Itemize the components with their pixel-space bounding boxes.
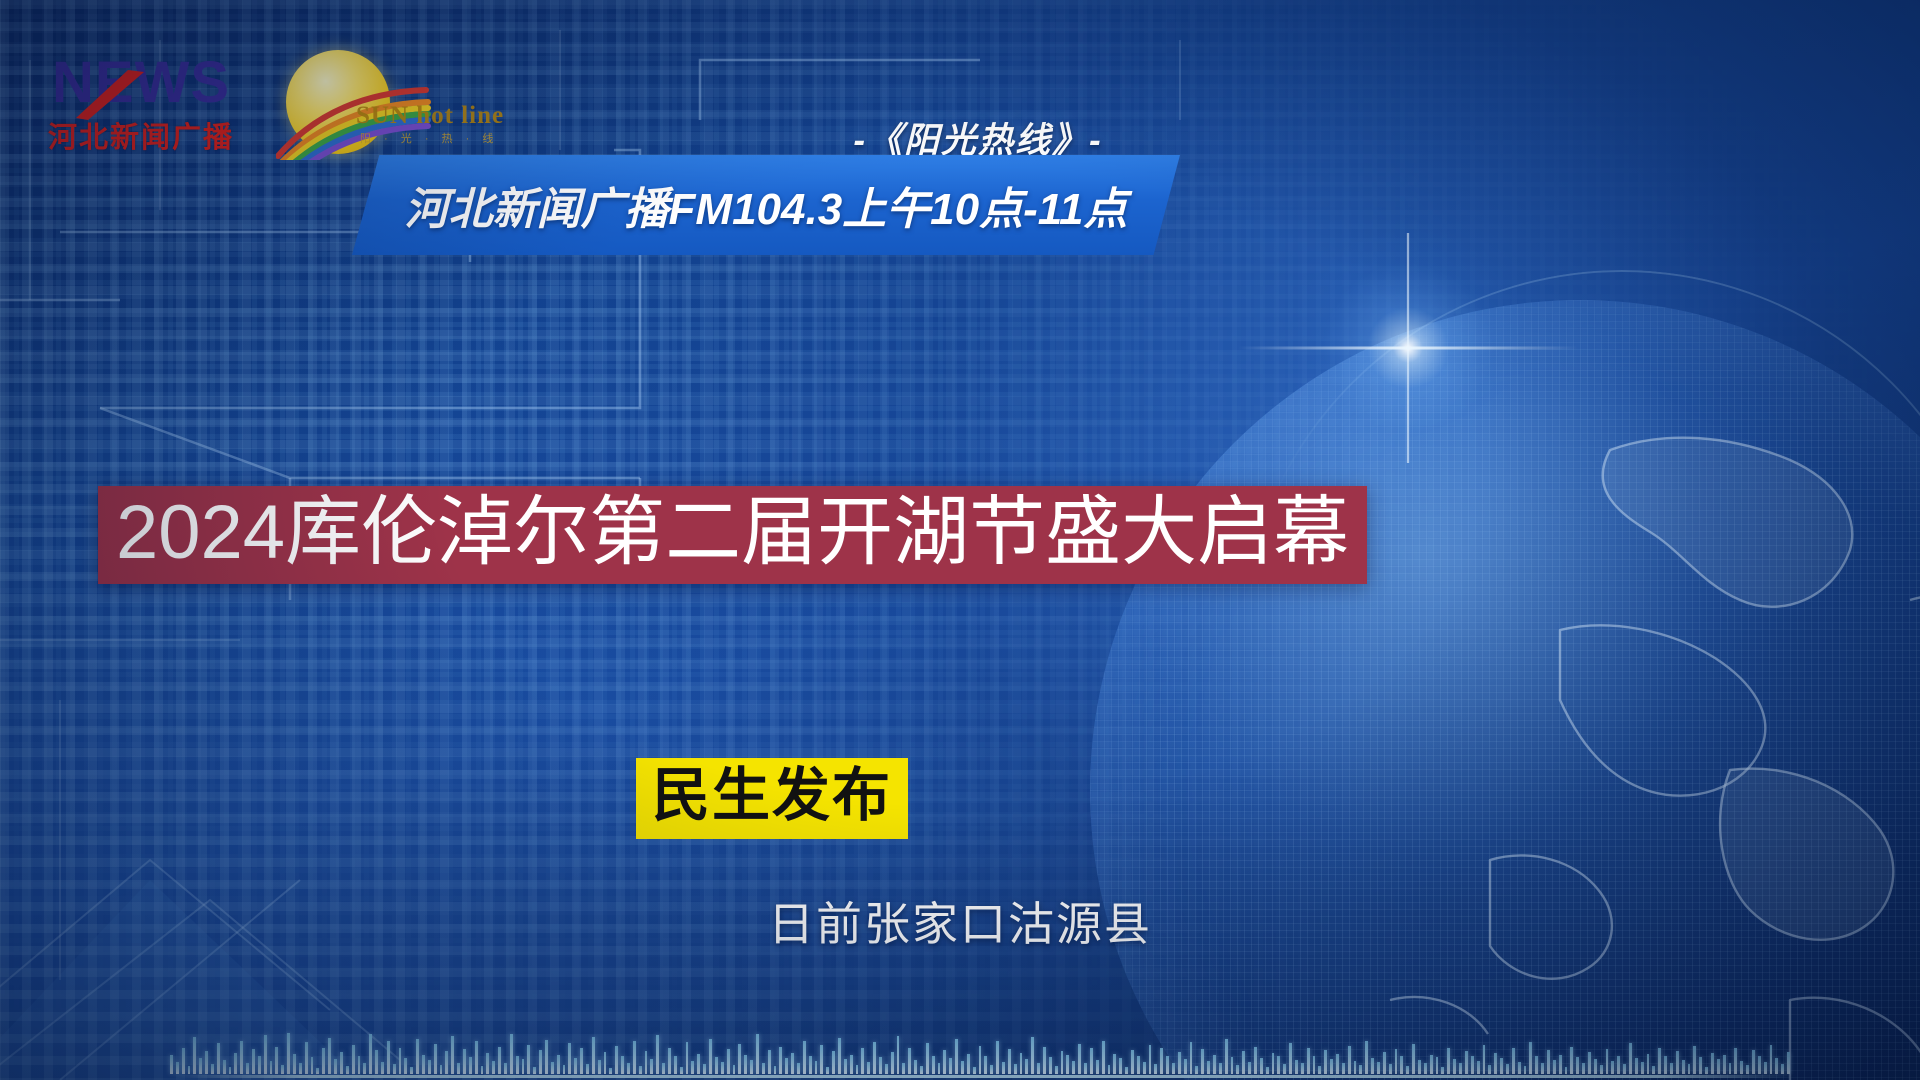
waveform-bar: [522, 1059, 525, 1074]
waveform-bar: [1383, 1052, 1386, 1074]
waveform-bar: [1576, 1057, 1579, 1074]
waveform-bar: [609, 1068, 612, 1074]
waveform-bar: [627, 1063, 630, 1074]
waveform-bar: [1711, 1053, 1714, 1074]
waveform-bar: [1635, 1058, 1638, 1074]
waveform-bar: [193, 1037, 196, 1074]
waveform-bar: [1242, 1051, 1245, 1074]
hebei-news-radio-logo: NEWS 河北新闻广播: [48, 52, 248, 156]
waveform-bar: [346, 1066, 349, 1074]
waveform-bar: [217, 1043, 220, 1074]
waveform-bar: [340, 1052, 343, 1074]
waveform-bar: [1154, 1064, 1157, 1074]
waveform-bar: [1359, 1065, 1362, 1074]
waveform-bar: [703, 1064, 706, 1074]
waveform-bar: [1547, 1050, 1550, 1074]
waveform-bar: [322, 1048, 325, 1074]
waveform-bar: [1043, 1047, 1046, 1074]
waveform-bar: [879, 1057, 882, 1074]
program-schedule-text: 河北新闻广播FM104.3上午10点-11点: [352, 173, 1180, 237]
waveform-bar: [264, 1035, 267, 1074]
waveform-bar: [1213, 1055, 1216, 1074]
waveform-bar: [1400, 1056, 1403, 1074]
waveform-bar: [680, 1067, 683, 1074]
waveform-bar: [955, 1039, 958, 1074]
waveform-bar: [990, 1065, 993, 1074]
waveform-bar: [897, 1036, 900, 1074]
waveform-bar: [1623, 1064, 1626, 1074]
waveform-bar: [1494, 1053, 1497, 1074]
waveform-bar: [557, 1055, 560, 1074]
waveform-bar: [1283, 1064, 1286, 1074]
waveform-bar: [1330, 1059, 1333, 1074]
waveform-bar: [1559, 1055, 1562, 1074]
waveform-bar: [1072, 1061, 1075, 1074]
waveform-bar: [926, 1043, 929, 1074]
waveform-bar: [697, 1054, 700, 1074]
waveform-bar: [1436, 1057, 1439, 1074]
broadcast-news-overlay: NEWS 河北新闻广播 SUN hot line 阳 · 光 · 热 · 线: [0, 0, 1920, 1080]
waveform-bar: [861, 1048, 864, 1074]
waveform-bar: [240, 1041, 243, 1074]
waveform-bar: [416, 1039, 419, 1074]
waveform-bar: [387, 1041, 390, 1074]
waveform-bar: [486, 1053, 489, 1074]
waveform-bar: [316, 1068, 319, 1074]
waveform-bar: [1764, 1062, 1767, 1074]
waveform-bar: [328, 1038, 331, 1074]
waveform-bar: [1131, 1050, 1134, 1074]
waveform-bar: [311, 1057, 314, 1074]
waveform-bar: [1412, 1044, 1415, 1074]
waveform-bar: [815, 1061, 818, 1074]
waveform-bar: [1137, 1056, 1140, 1074]
waveform-bar: [440, 1065, 443, 1074]
waveform-bar: [1453, 1059, 1456, 1074]
waveform-bar: [1459, 1063, 1462, 1074]
waveform-bar: [1565, 1067, 1568, 1074]
waveform-bar: [592, 1037, 595, 1074]
waveform-bar: [1477, 1061, 1480, 1074]
waveform-bar: [1606, 1049, 1609, 1074]
waveform-bar: [1231, 1057, 1234, 1074]
waveform-bar: [399, 1048, 402, 1074]
waveform-bar: [1582, 1063, 1585, 1074]
sun-hotline-logo: SUN hot line 阳 · 光 · 热 · 线: [280, 50, 470, 160]
waveform-bar: [668, 1048, 671, 1074]
waveform-bar: [469, 1057, 472, 1074]
waveform-bar: [1277, 1056, 1280, 1074]
waveform-bar: [856, 1065, 859, 1074]
waveform-bar: [1740, 1061, 1743, 1074]
waveform-bar: [574, 1058, 577, 1074]
waveform-bar: [1236, 1065, 1239, 1074]
waveform-bar: [885, 1064, 888, 1074]
waveform-bar: [1395, 1049, 1398, 1074]
waveform-bar: [358, 1056, 361, 1074]
waveform-bar: [615, 1046, 618, 1074]
waveform-bar: [1008, 1049, 1011, 1074]
waveform-bar: [1723, 1055, 1726, 1074]
waveform-bar: [1102, 1041, 1105, 1074]
waveform-bar: [1049, 1057, 1052, 1074]
waveform-bar: [1717, 1059, 1720, 1074]
waveform-bar: [1512, 1048, 1515, 1074]
waveform-bar: [1025, 1059, 1028, 1074]
waveform-bar: [709, 1039, 712, 1074]
waveform-bar: [1219, 1063, 1222, 1074]
waveform-bar: [1629, 1043, 1632, 1074]
waveform-bar: [1658, 1048, 1661, 1074]
waveform-bar: [820, 1045, 823, 1074]
waveform-bar: [1752, 1050, 1755, 1074]
waveform-bar: [721, 1062, 724, 1074]
waveform-bar: [1693, 1046, 1696, 1074]
waveform-bar: [580, 1048, 583, 1074]
waveform-bar: [1125, 1067, 1128, 1074]
waveform-bar: [785, 1058, 788, 1074]
waveform-bar: [551, 1062, 554, 1074]
waveform-bar: [299, 1063, 302, 1074]
waveform-bar: [1365, 1041, 1368, 1074]
waveform-bar: [539, 1050, 542, 1074]
waveform-bar: [182, 1048, 185, 1074]
waveform-bar: [451, 1036, 454, 1074]
waveform-bar: [1389, 1064, 1392, 1074]
waveform-bar: [1195, 1066, 1198, 1074]
waveform-bar: [463, 1049, 466, 1074]
waveform-bar: [1061, 1051, 1064, 1074]
waveform-bar: [1078, 1044, 1081, 1074]
waveform-bar: [1172, 1063, 1175, 1074]
waveform-bar: [932, 1056, 935, 1074]
waveform-bar: [287, 1033, 290, 1074]
waveform-bar: [1465, 1051, 1468, 1074]
waveform-bar: [1190, 1042, 1193, 1074]
waveform-bar: [1647, 1054, 1650, 1074]
waveform-bar: [832, 1051, 835, 1074]
waveform-bar: [598, 1060, 601, 1074]
waveform-bar: [1113, 1054, 1116, 1074]
waveform-bar: [1518, 1062, 1521, 1074]
waveform-bar: [492, 1061, 495, 1074]
waveform-bar: [756, 1034, 759, 1074]
waveform-bar: [984, 1056, 987, 1074]
waveform-bar: [270, 1061, 273, 1074]
waveform-bar: [1318, 1066, 1321, 1074]
waveform-bar: [1447, 1048, 1450, 1074]
waveform-bar: [1313, 1056, 1316, 1074]
waveform-bar: [1289, 1043, 1292, 1074]
waveform-bar: [1600, 1065, 1603, 1074]
waveform-bar: [662, 1063, 665, 1074]
waveform-bar: [1096, 1060, 1099, 1074]
waveform-bar: [803, 1041, 806, 1074]
waveform-bar: [1418, 1060, 1421, 1074]
waveform-bar: [1149, 1045, 1152, 1074]
waveform-bar: [1371, 1058, 1374, 1074]
waveform-bar: [738, 1044, 741, 1074]
waveform-bar: [246, 1063, 249, 1074]
category-label: 民生发布: [652, 766, 892, 827]
waveform-bar: [1775, 1058, 1778, 1074]
waveform-bar: [914, 1060, 917, 1074]
waveform-bar: [1178, 1052, 1181, 1074]
program-schedule-banner: 河北新闻广播FM104.3上午10点-11点: [352, 155, 1180, 255]
waveform-bar: [1541, 1063, 1544, 1074]
waveform-bar: [1734, 1048, 1737, 1074]
waveform-bar: [510, 1034, 513, 1074]
waveform-bar: [979, 1046, 982, 1074]
waveform-bar: [633, 1041, 636, 1074]
waveform-bar: [844, 1059, 847, 1074]
waveform-bar: [1506, 1064, 1509, 1074]
waveform-bar: [1787, 1052, 1790, 1074]
waveform-bar: [281, 1065, 284, 1074]
waveform-bar: [1354, 1061, 1357, 1074]
waveform-bar: [1553, 1060, 1556, 1074]
waveform-bar: [1705, 1067, 1708, 1074]
waveform-bar: [1055, 1066, 1058, 1074]
waveform-bar: [943, 1050, 946, 1074]
waveform-bar: [1014, 1064, 1017, 1074]
waveform-bar: [1207, 1061, 1210, 1074]
waveform-bar: [1254, 1047, 1257, 1074]
waveform-bar: [920, 1066, 923, 1074]
waveform-bar: [1424, 1063, 1427, 1074]
waveform-bar: [252, 1049, 255, 1074]
waveform-bar: [768, 1050, 771, 1074]
waveform-bar: [1342, 1063, 1345, 1074]
waveform-bar: [826, 1067, 829, 1074]
waveform-bar: [422, 1055, 425, 1074]
waveform-bar: [381, 1062, 384, 1074]
waveform-bar: [1746, 1065, 1749, 1074]
waveform-bar: [1652, 1066, 1655, 1074]
waveform-bar: [1471, 1056, 1474, 1074]
subtitle-text: 日前张家口沽源县: [768, 898, 1152, 950]
waveform-bar: [176, 1062, 179, 1074]
waveform-bar: [504, 1063, 507, 1074]
waveform-bar: [275, 1047, 278, 1074]
waveform-bar: [305, 1042, 308, 1074]
waveform-bar: [1295, 1060, 1298, 1074]
waveform-bar: [1307, 1048, 1310, 1074]
waveform-bar: [809, 1056, 812, 1074]
waveform-bar: [727, 1049, 730, 1074]
waveform-bar: [445, 1051, 448, 1074]
waveform-bar: [1348, 1046, 1351, 1074]
waveform-bar: [867, 1062, 870, 1074]
waveform-bar: [1272, 1053, 1275, 1074]
waveform-bar: [234, 1053, 237, 1074]
waveform-bar: [1002, 1062, 1005, 1074]
waveform-bar: [1524, 1066, 1527, 1074]
waveform-bar: [639, 1066, 642, 1074]
waveform-bar: [352, 1045, 355, 1074]
waveform-bar: [1266, 1067, 1269, 1074]
waveform-bar: [744, 1055, 747, 1074]
waveform-bar: [1090, 1048, 1093, 1074]
headline-banner: 2024库伦淖尔第二届开湖节盛大启幕: [98, 486, 1367, 584]
waveform-bar: [1084, 1063, 1087, 1074]
waveform-bar: [1758, 1056, 1761, 1074]
program-logo-cn: 阳 · 光 · 热 · 线: [360, 130, 498, 146]
waveform-bar: [1430, 1055, 1433, 1074]
waveform-bar: [967, 1054, 970, 1074]
waveform-bar: [656, 1035, 659, 1074]
waveform-bar: [293, 1054, 296, 1074]
waveform-bar: [1184, 1059, 1187, 1074]
waveform-bar: [188, 1066, 191, 1074]
waveform-bar: [1682, 1060, 1685, 1074]
category-badge: 民生发布: [636, 758, 908, 839]
waveform-bar: [873, 1042, 876, 1074]
waveform-bar: [369, 1034, 372, 1074]
waveform-bar: [533, 1067, 536, 1074]
waveform-bar: [258, 1056, 261, 1074]
waveform-bar: [1406, 1066, 1409, 1074]
waveform-bar: [1770, 1045, 1773, 1074]
waveform-bar: [1670, 1063, 1673, 1074]
waveform-bar: [996, 1041, 999, 1074]
waveform-bar: [1336, 1054, 1339, 1074]
waveform-bar: [1031, 1037, 1034, 1074]
waveform-bar: [1377, 1062, 1380, 1074]
waveform-bar: [563, 1065, 566, 1074]
waveform-bar: [850, 1055, 853, 1074]
waveform-bar: [170, 1055, 173, 1074]
waveform-bar: [481, 1066, 484, 1074]
station-name-cn: 河北新闻广播: [48, 114, 234, 156]
waveform-bar: [1617, 1056, 1620, 1074]
waveform-bar: [1324, 1050, 1327, 1074]
waveform-bar: [715, 1057, 718, 1074]
waveform-bar: [1248, 1062, 1251, 1074]
waveform-bar: [750, 1060, 753, 1074]
waveform-bar: [205, 1051, 208, 1074]
waveform-bar: [604, 1052, 607, 1074]
waveform-bar: [838, 1038, 841, 1074]
waveform-bar: [434, 1044, 437, 1074]
waveform-bar: [1483, 1045, 1486, 1074]
waveform-bar: [973, 1067, 976, 1074]
waveform-bar: [410, 1067, 413, 1074]
waveform-bar: [1488, 1065, 1491, 1074]
waveform-bar: [428, 1060, 431, 1074]
waveform-bar: [545, 1040, 548, 1074]
waveform-bar: [457, 1063, 460, 1074]
waveform-bar: [1535, 1056, 1538, 1074]
waveform-bar: [1664, 1056, 1667, 1074]
waveform-bar: [908, 1048, 911, 1074]
waveform-bar: [1119, 1058, 1122, 1074]
waveform-bar: [393, 1064, 396, 1074]
waveform-bar: [1781, 1064, 1784, 1074]
waveform-bar: [949, 1058, 952, 1074]
waveform-bar: [475, 1041, 478, 1074]
waveform-bar: [1529, 1042, 1532, 1074]
waveform-bar: [691, 1061, 694, 1074]
waveform-bar: [199, 1058, 202, 1074]
waveform-bar: [774, 1066, 777, 1074]
waveform-bar: [586, 1064, 589, 1074]
waveform-bar: [334, 1059, 337, 1074]
waveform-bar: [568, 1043, 571, 1074]
waveform-bar: [733, 1065, 736, 1074]
waveform-bar: [1066, 1055, 1069, 1074]
waveform-bar: [902, 1063, 905, 1074]
waveform-bar: [1301, 1063, 1304, 1074]
waveform-bar: [762, 1063, 765, 1074]
waveform-bar: [1143, 1062, 1146, 1074]
waveform-bar: [1699, 1057, 1702, 1074]
waveform-bar: [223, 1060, 226, 1074]
waveform-bar: [1676, 1051, 1679, 1074]
waveform-bar: [1037, 1063, 1040, 1074]
waveform-bar: [229, 1067, 232, 1074]
waveform-bar: [1688, 1064, 1691, 1074]
subtitle: 日前张家口沽源县: [0, 888, 1920, 954]
program-logo-en: SUN hot line: [356, 102, 504, 130]
waveform-bar: [1160, 1048, 1163, 1074]
waveform-bar: [1020, 1053, 1023, 1074]
waveform-bar: [1441, 1067, 1444, 1074]
waveform-baseline: [170, 1075, 1790, 1078]
waveform-bar: [375, 1050, 378, 1074]
waveform-bar: [1570, 1047, 1573, 1074]
waveform-bar: [1225, 1039, 1228, 1074]
waveform-bar: [516, 1056, 519, 1074]
waveform-bar: [1594, 1059, 1597, 1074]
waveform-bar: [779, 1047, 782, 1074]
waveform-bar: [797, 1063, 800, 1074]
waveform-bar: [961, 1061, 964, 1074]
waveform-bar: [1201, 1049, 1204, 1074]
waveform-bar: [938, 1063, 941, 1074]
waveform-bar: [674, 1056, 677, 1074]
waveform-bar: [645, 1051, 648, 1074]
waveform-bar: [1166, 1056, 1169, 1074]
waveform-bar: [211, 1064, 214, 1074]
waveform-bar: [650, 1059, 653, 1074]
waveform-bar: [404, 1058, 407, 1074]
waveform-bar: [527, 1045, 530, 1074]
waveform-bar: [1500, 1058, 1503, 1074]
waveform-bar: [1729, 1063, 1732, 1074]
waveform-bar: [363, 1063, 366, 1074]
waveform-bar: [1641, 1062, 1644, 1074]
audio-waveform: [170, 1026, 1790, 1074]
waveform-bar: [621, 1056, 624, 1074]
waveform-bar: [791, 1053, 794, 1074]
waveform-bar: [1260, 1058, 1263, 1074]
waveform-bar: [686, 1042, 689, 1074]
headline-text: 2024库伦淖尔第二届开湖节盛大启幕: [116, 492, 1349, 574]
waveform-bar: [1611, 1061, 1614, 1074]
waveform-bar: [498, 1047, 501, 1074]
waveform-bar: [1588, 1052, 1591, 1074]
waveform-bar: [1108, 1065, 1111, 1074]
waveform-bar: [891, 1052, 894, 1074]
